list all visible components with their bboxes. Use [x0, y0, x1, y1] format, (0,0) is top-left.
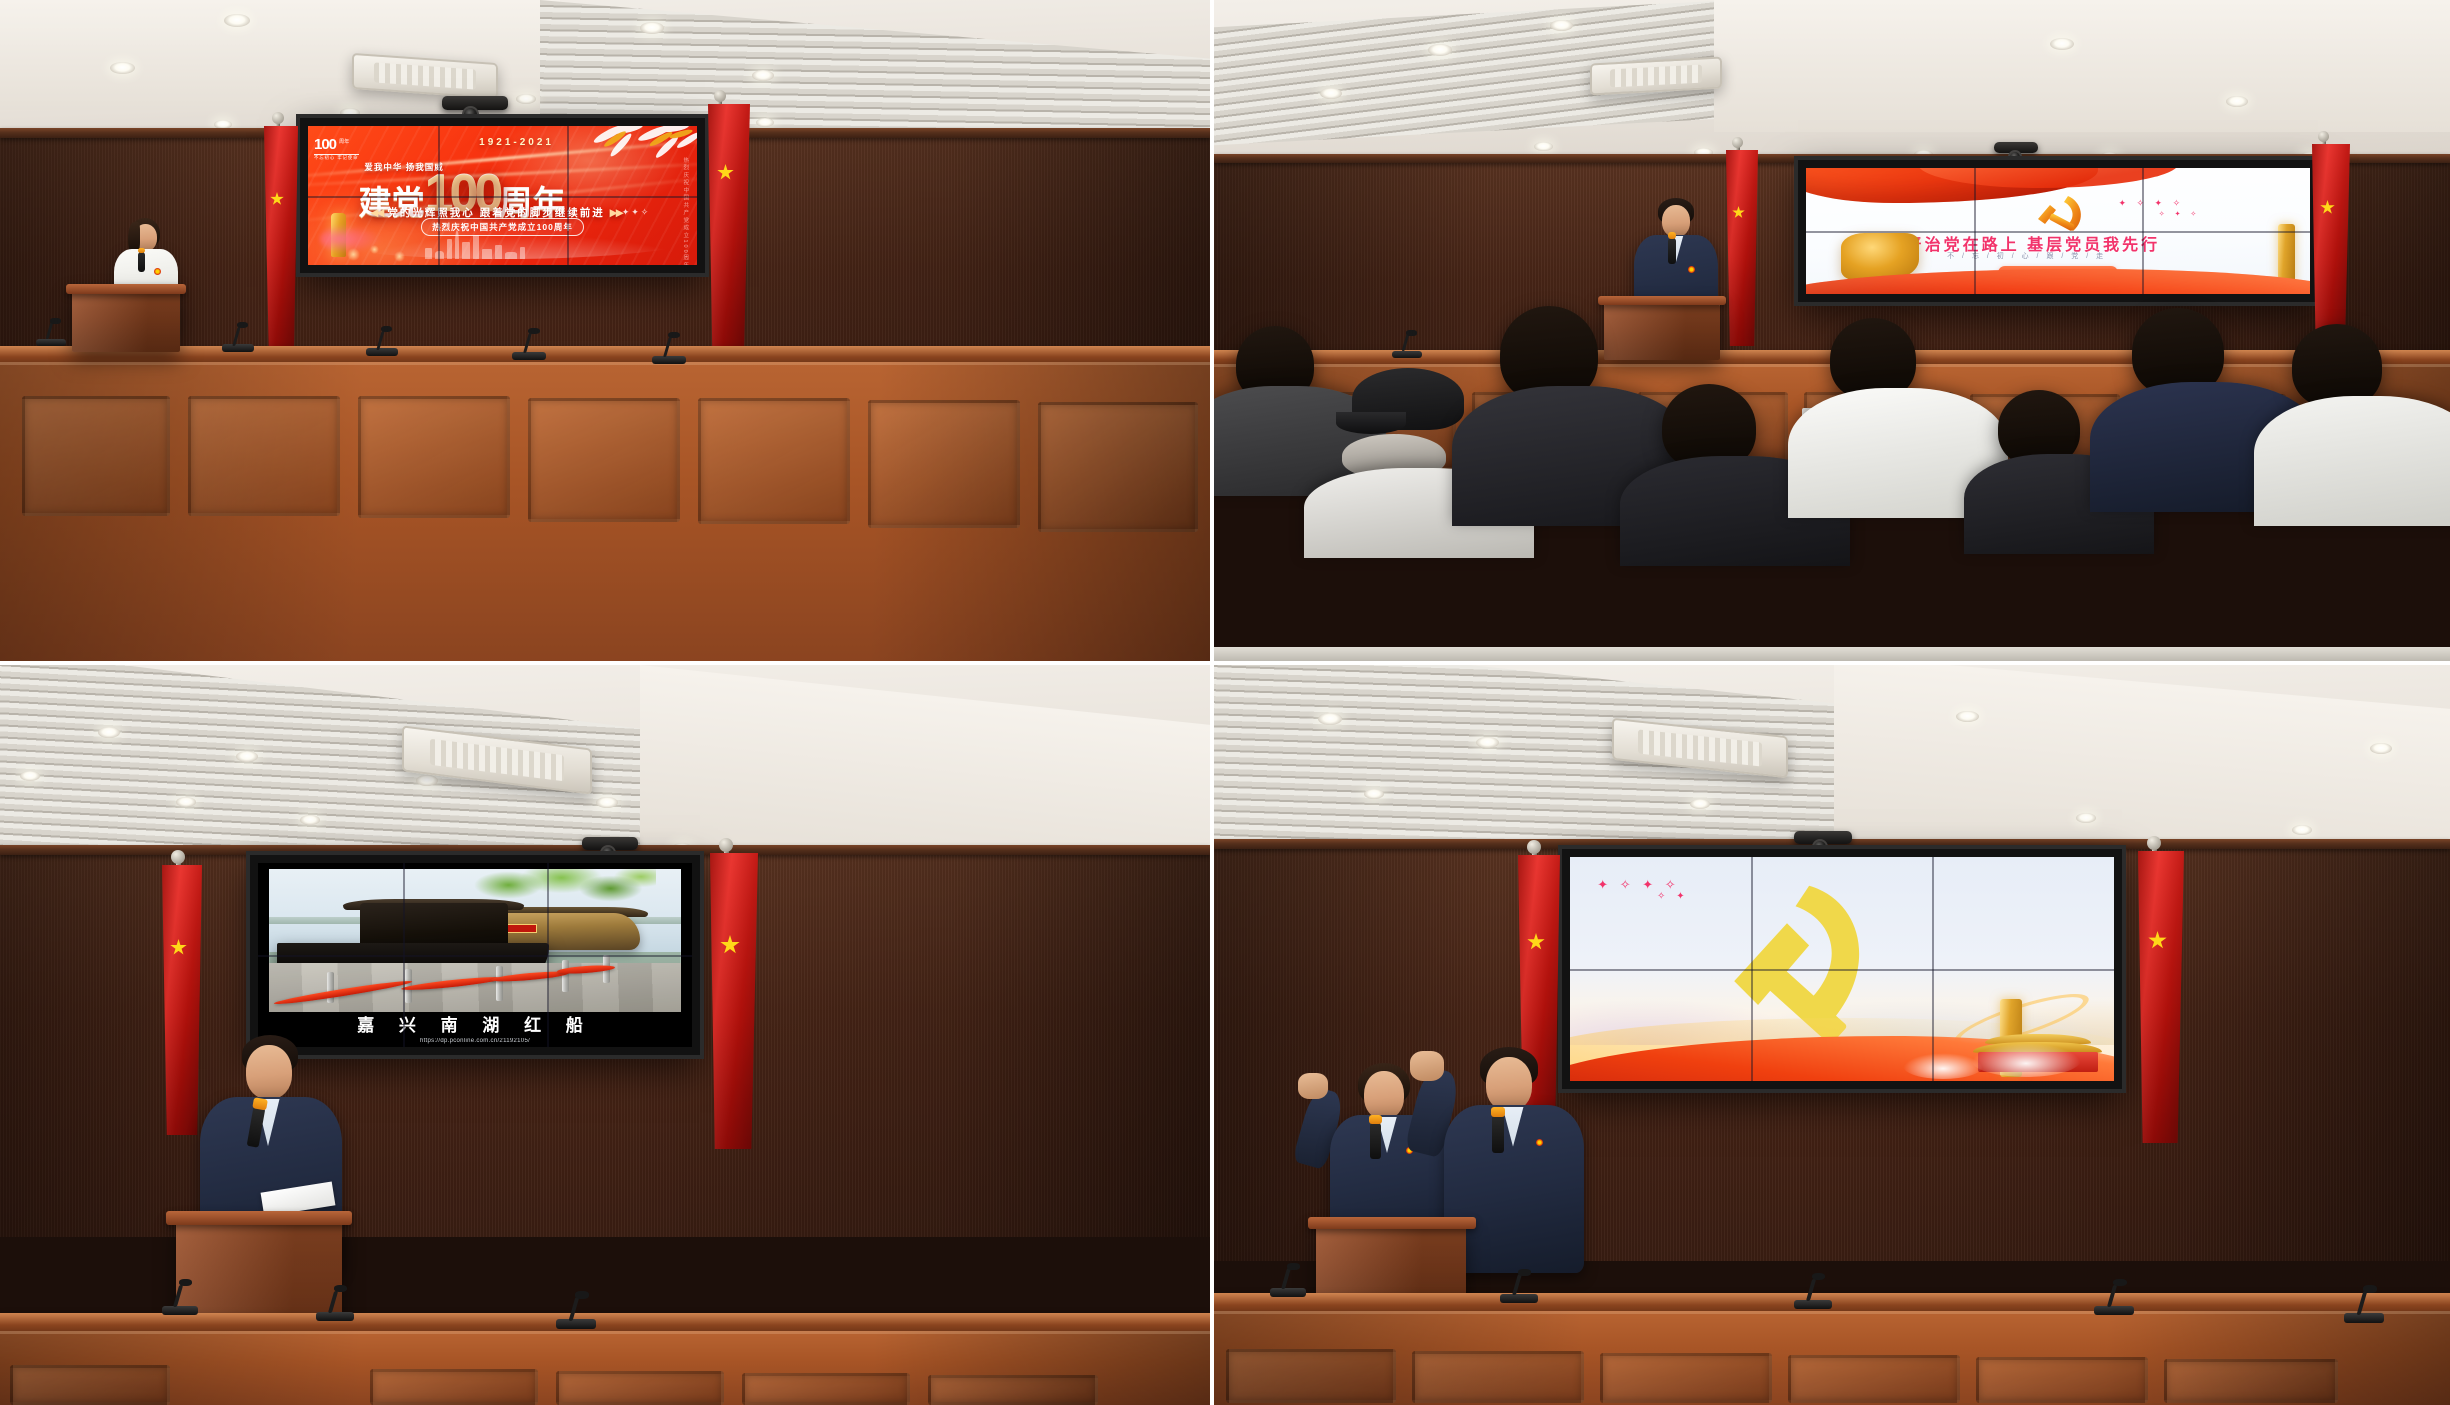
downlight: [340, 108, 360, 118]
vertical-side-text: 热烈庆祝中国共产党成立100周年: [681, 157, 689, 265]
video-wall: 100周年 不忘初心 牢记使命 1921-2021 爱我中华 扬我国威 建党 1…: [300, 118, 705, 273]
desk-microphone: [162, 1279, 198, 1315]
desk-microphone: [512, 328, 546, 360]
photo-collage: 100周年 不忘初心 牢记使命 1921-2021 爱我中华 扬我国威 建党 1…: [0, 0, 2450, 1405]
huabiao-column-icon: [2278, 224, 2295, 284]
table-panel: [188, 396, 340, 516]
desk-microphone: [1794, 1273, 1832, 1309]
national-flag: [2312, 144, 2350, 352]
national-flag: [708, 104, 750, 346]
downlight: [236, 751, 258, 762]
downlight: [640, 22, 664, 34]
national-flag: [264, 126, 298, 352]
video-wall: 嘉 兴 南 湖 红 船 https://dp.pconline.com.cn/2…: [250, 855, 700, 1055]
downlight: [110, 62, 135, 74]
podium: [72, 290, 180, 352]
desk-microphone: [366, 326, 398, 356]
party-pin-icon: [1536, 1139, 1543, 1146]
screen-nanhu-boat-photo: 嘉 兴 南 湖 红 船 https://dp.pconline.com.cn/2…: [258, 863, 692, 1047]
flag-star-icon: [2320, 200, 2335, 215]
downlight: [756, 118, 774, 127]
party-pin-icon: [154, 268, 161, 275]
downlight: [1690, 799, 1710, 809]
downlight: [2076, 813, 2096, 823]
downlight: [752, 70, 774, 81]
podium-top: [1308, 1217, 1476, 1229]
screen-centenary-banner: 100周年 不忘初心 牢记使命 1921-2021 爱我中华 扬我国威 建党 1…: [308, 126, 697, 265]
handheld-microphone: [1370, 1123, 1381, 1159]
podium-top: [1598, 296, 1726, 305]
cloud: [1903, 1053, 1983, 1079]
audience-member: [2266, 324, 2450, 494]
downlight: [1956, 711, 1979, 722]
downlight: [98, 727, 120, 738]
table-panel: [358, 396, 510, 518]
photo-area: [269, 869, 681, 1013]
flag-pole-finial: [1527, 840, 1541, 854]
desk-microphone: [222, 322, 254, 352]
flag-star-icon: [1527, 933, 1545, 951]
collage-panel-top-left: 100周年 不忘初心 牢记使命 1921-2021 爱我中华 扬我国威 建党 1…: [0, 0, 1214, 665]
table-panel: [1788, 1355, 1960, 1403]
rope-post: [327, 972, 334, 1004]
head-table-ledge: [1214, 1293, 2450, 1313]
logo-number: 100: [314, 137, 336, 152]
head: [1486, 1057, 1532, 1111]
table-panel: [1976, 1357, 2148, 1403]
downlight: [224, 14, 250, 27]
table-panel: [1226, 1349, 1396, 1403]
flag-pole-finial: [2147, 836, 2161, 850]
flag-pole-finial: [714, 90, 726, 102]
dove-flock-icon: ✦ ✧ ✦ ✧: [2118, 198, 2184, 209]
podium-top: [166, 1211, 352, 1225]
dove-flock-icon: ✧ ✦ ✧: [2159, 210, 2201, 218]
desk-microphone: [1270, 1263, 1306, 1297]
flag-star-icon: [720, 935, 740, 955]
slide-subtitle: 不 / 忘 / 初 / 心 / 跟 / 党 / 走: [1947, 251, 2106, 261]
head: [1364, 1071, 1404, 1119]
handheld-microphone: [1668, 238, 1676, 264]
video-wall: ✦ ✧ ✦ ✧ ✧ ✦ ✧ 从严治党在路上 基层党员我先行 不 / 忘 / 初 …: [1798, 160, 2318, 302]
video-wall: ✦ ✧ ✦ ✧ ✧ ✦: [1562, 849, 2122, 1089]
downlight: [1318, 713, 1342, 725]
handheld-microphone: [138, 252, 145, 272]
table-panel: [370, 1369, 538, 1405]
rope-post: [562, 960, 569, 992]
collage-panel-bottom-left: 嘉 兴 南 湖 红 船 https://dp.pconline.com.cn/2…: [0, 665, 1214, 1405]
flag-pole-finial: [1732, 137, 1743, 148]
flag-pole-finial: [171, 850, 185, 864]
downlight: [2370, 743, 2392, 754]
desk-microphone: [2344, 1285, 2384, 1323]
desk-microphone: [1500, 1269, 1538, 1303]
downlight: [2226, 96, 2248, 107]
downlight: [1320, 88, 1342, 99]
light-swoosh: [308, 204, 697, 260]
podium-top: [66, 284, 186, 294]
cap-brim: [1336, 412, 1406, 434]
raised-fist: [1410, 1051, 1444, 1081]
desk-microphone: [316, 1285, 354, 1321]
desk-microphone: [2094, 1279, 2134, 1315]
downlight: [1550, 20, 1573, 31]
table-panel: [698, 398, 850, 524]
flag-star-icon: [717, 164, 734, 181]
screen-emblem-slide: ✦ ✧ ✦ ✧ ✧ ✦: [1570, 857, 2114, 1081]
national-flag: [2138, 851, 2184, 1143]
anniversary-logo: 100周年 不忘初心 牢记使命: [314, 137, 359, 160]
head-table-ledge: [0, 1313, 1210, 1333]
collage-panel-bottom-right: ✦ ✧ ✦ ✧ ✧ ✦: [1214, 665, 2450, 1405]
flag-star-icon: [2148, 931, 2167, 950]
table-panel: [10, 1365, 170, 1405]
dove-flock-icon: ✧ ✦: [1657, 891, 1689, 902]
downlight: [416, 775, 438, 786]
downlight: [176, 797, 196, 807]
handheld-microphone: [1492, 1115, 1504, 1153]
years-range: 1921-2021: [479, 137, 554, 148]
table-panel: [528, 398, 680, 522]
front-desk-rail: [1214, 647, 2450, 661]
table-panel: [1038, 402, 1198, 532]
cloud: [1971, 1043, 2081, 1077]
desk-microphone: [36, 318, 66, 346]
table-panel: [1412, 1351, 1584, 1403]
flag-star-icon: [1732, 206, 1745, 219]
ceiling-flat-section: [1714, 0, 2450, 132]
national-flag: [1726, 150, 1758, 346]
downlight: [1428, 44, 1452, 56]
downlight: [596, 797, 618, 808]
table-panel: [742, 1373, 910, 1405]
boat-red-sign: [504, 924, 537, 933]
logo-subtitle: 不忘初心 牢记使命: [314, 154, 359, 160]
table-panel: [556, 1371, 724, 1405]
table-panel: [928, 1375, 1098, 1405]
head: [246, 1045, 292, 1099]
flag-star-icon: [170, 939, 187, 956]
downlight: [2292, 825, 2312, 835]
flag-pole-finial: [719, 838, 733, 852]
screen-speech-title-slide: ✦ ✧ ✦ ✧ ✧ ✦ ✧ 从严治党在路上 基层党员我先行 不 / 忘 / 初 …: [1806, 168, 2310, 294]
national-flag: [710, 853, 758, 1149]
downlight: [300, 815, 320, 825]
photo-caption: 嘉 兴 南 湖 红 船: [258, 1011, 692, 1036]
table-panel: [22, 396, 170, 516]
rope-post: [496, 966, 503, 1000]
downlight: [1534, 142, 1553, 151]
collage-panel-top-right: ✦ ✧ ✦ ✧ ✧ ✦ ✧ 从严治党在路上 基层党员我先行 不 / 忘 / 初 …: [1214, 0, 2450, 665]
raised-fist: [1298, 1073, 1328, 1099]
head: [1662, 205, 1690, 237]
downlight: [1476, 737, 1499, 748]
downlight: [20, 771, 40, 781]
table-panel: [2164, 1359, 2338, 1403]
downlight: [516, 94, 536, 104]
flag-star-icon: [270, 192, 284, 206]
flag-pole-finial: [2318, 131, 2329, 142]
audience-member: [1802, 318, 1982, 488]
desk-microphone: [556, 1291, 596, 1329]
table-panel: [868, 400, 1020, 528]
party-pin-icon: [1688, 266, 1695, 273]
table-panel: [1600, 1353, 1772, 1403]
logo-unit: 周年: [339, 139, 349, 145]
downlight: [1364, 789, 1384, 799]
flag-pole-finial: [272, 112, 284, 124]
desk-microphone: [1392, 330, 1422, 358]
desk-microphone: [652, 332, 686, 364]
downlight: [2050, 38, 2074, 50]
